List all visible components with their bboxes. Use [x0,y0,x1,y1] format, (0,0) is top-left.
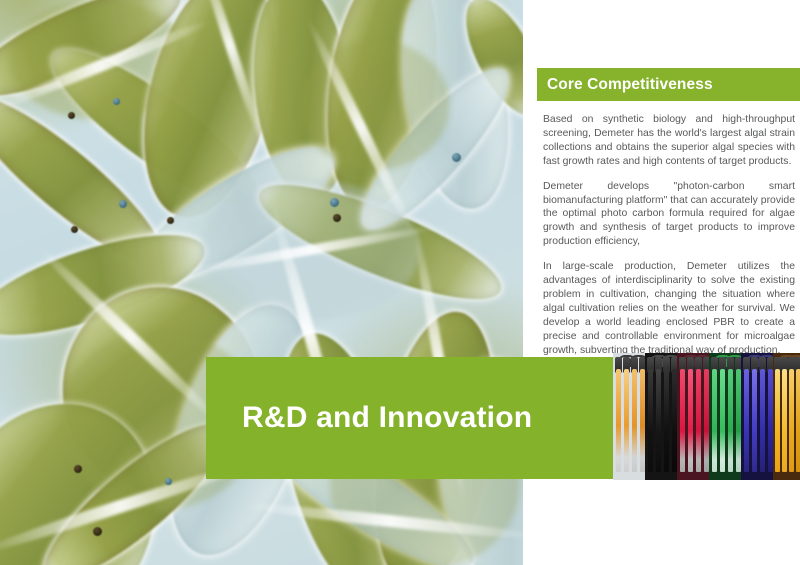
algae-nucleus [119,200,127,208]
core-competitiveness-header: Core Competitiveness [537,68,800,101]
rd-innovation-banner: R&D and Innovation [206,357,613,479]
pbr-tube-group-blue [741,353,773,480]
pbr-tube-group-green [709,353,741,480]
algae-nucleus [71,226,78,233]
algae-nucleus [167,217,174,224]
photobioreactor-tubes-photo [613,353,800,480]
algae-nucleus [165,478,172,485]
algae-microscopy-photo [0,0,523,565]
algae-nucleus [68,112,75,119]
core-competitiveness-title: Core Competitiveness [547,76,713,94]
core-competitiveness-panel: Core Competitiveness Based on synthetic … [537,68,800,358]
pbr-tube-group-black [645,353,677,480]
algae-nucleus [74,465,82,473]
algae-nucleus [452,153,461,162]
core-paragraph-1: Based on synthetic biology and high-thro… [543,113,795,169]
algae-nucleus [93,527,102,536]
core-competitiveness-body: Based on synthetic biology and high-thro… [537,101,800,358]
algae-nucleus [113,98,120,105]
pbr-tube-group-orange [613,353,645,480]
pbr-tube-group-yellow [773,353,800,480]
brochure-page: Core Competitiveness Based on synthetic … [0,0,800,565]
algae-nucleus [330,198,339,207]
core-paragraph-2: Demeter develops "photon-carbon smart bi… [543,180,795,250]
core-paragraph-3: In large-scale production, Demeter utili… [543,260,795,357]
rd-innovation-title: R&D and Innovation [206,401,532,435]
pbr-tube-group-red [677,353,709,480]
algae-nucleus [333,214,341,222]
